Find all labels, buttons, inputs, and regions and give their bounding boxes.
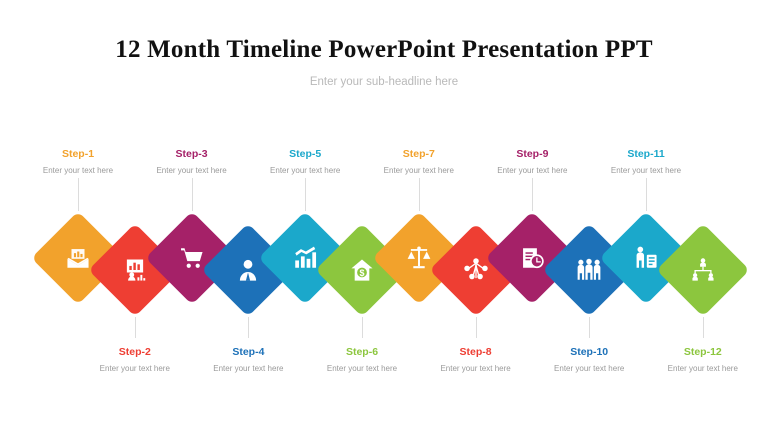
step-title: Step-11 bbox=[576, 148, 716, 161]
network-people-icon bbox=[463, 257, 489, 283]
businessman-icon bbox=[235, 257, 261, 283]
timeline-label-11[interactable]: Step-11Enter your text here bbox=[576, 148, 716, 177]
team-group-icon bbox=[576, 257, 602, 283]
connector-line bbox=[192, 178, 193, 211]
connector-line bbox=[646, 178, 647, 211]
connector-line bbox=[476, 317, 477, 338]
timeline-label-12[interactable]: Step-12Enter your text here bbox=[633, 346, 768, 375]
step-description: Enter your text here bbox=[633, 362, 768, 375]
connector-line bbox=[362, 317, 363, 338]
connector-line bbox=[532, 178, 533, 211]
clipboard-clock-icon bbox=[519, 245, 545, 271]
connector-line bbox=[419, 178, 420, 211]
step-title: Step-12 bbox=[633, 346, 768, 359]
connector-line bbox=[305, 178, 306, 211]
timeline-diagram: Step-1Enter your text hereStep-2Enter yo… bbox=[0, 0, 768, 432]
presentation-board-icon bbox=[122, 257, 148, 283]
envelope-chart-icon bbox=[65, 245, 91, 271]
shopping-cart-icon bbox=[179, 245, 205, 271]
presenter-podium-icon bbox=[633, 245, 659, 271]
connector-line bbox=[248, 317, 249, 338]
connector-line bbox=[78, 178, 79, 211]
house-dollar-icon bbox=[349, 257, 375, 283]
org-hierarchy-icon bbox=[690, 257, 716, 283]
scales-balance-icon bbox=[406, 245, 432, 271]
step-description: Enter your text here bbox=[576, 164, 716, 177]
connector-line bbox=[703, 317, 704, 338]
bar-chart-growth-icon bbox=[292, 245, 318, 271]
connector-line bbox=[589, 317, 590, 338]
connector-line bbox=[135, 317, 136, 338]
